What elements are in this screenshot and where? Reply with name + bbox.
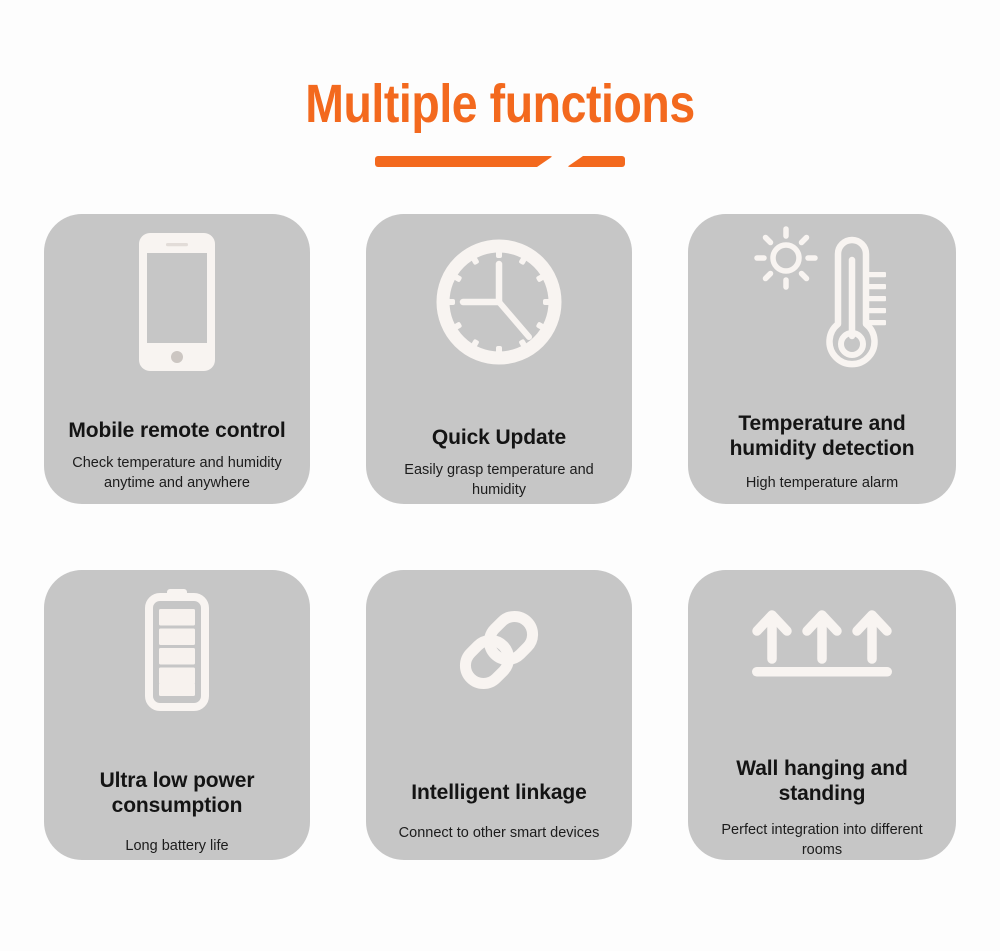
clock-icon xyxy=(376,214,622,389)
thermometer-sun-icon xyxy=(698,214,946,389)
up-arrows-surface-icon xyxy=(698,570,946,716)
card-subtitle: Long battery life xyxy=(125,836,228,856)
feature-card-ultra-low-power-consumption[interactable]: Ultra low power consumption Long battery… xyxy=(44,570,310,860)
feature-card-mobile-remote-control[interactable]: Mobile remote control Check temperature … xyxy=(44,214,310,504)
card-title: Ultra low power consumption xyxy=(54,768,300,818)
chain-link-icon xyxy=(376,570,622,730)
card-subtitle: Check temperature and humidity anytime a… xyxy=(57,453,297,493)
page-title: Multiple functions xyxy=(70,74,930,134)
divider-bar-long xyxy=(375,156,553,167)
card-title: Quick Update xyxy=(432,425,566,450)
card-subtitle: Connect to other smart devices xyxy=(399,823,600,843)
battery-icon xyxy=(54,570,300,730)
card-subtitle: Perfect integration into different rooms xyxy=(702,820,942,860)
card-title: Mobile remote control xyxy=(68,418,285,443)
card-subtitle: Easily grasp temperature and humidity xyxy=(379,460,619,500)
title-divider xyxy=(375,150,625,172)
feature-card-grid: Mobile remote control Check temperature … xyxy=(44,214,956,860)
page-header: Multiple functions xyxy=(0,0,1000,172)
card-subtitle: High temperature alarm xyxy=(746,473,898,493)
card-title: Wall hanging and standing xyxy=(698,756,946,806)
feature-card-intelligent-linkage[interactable]: Intelligent linkage Connect to other sma… xyxy=(366,570,632,860)
smartphone-icon xyxy=(54,214,300,389)
divider-bar-short xyxy=(567,156,625,167)
card-title: Intelligent linkage xyxy=(411,780,586,805)
feature-card-quick-update[interactable]: Quick Update Easily grasp temperature an… xyxy=(366,214,632,504)
feature-card-wall-hanging-and-standing[interactable]: Wall hanging and standing Perfect integr… xyxy=(688,570,956,860)
card-title: Temperature and humidity detection xyxy=(698,411,946,461)
feature-card-temperature-humidity-detection[interactable]: Temperature and humidity detection High … xyxy=(688,214,956,504)
